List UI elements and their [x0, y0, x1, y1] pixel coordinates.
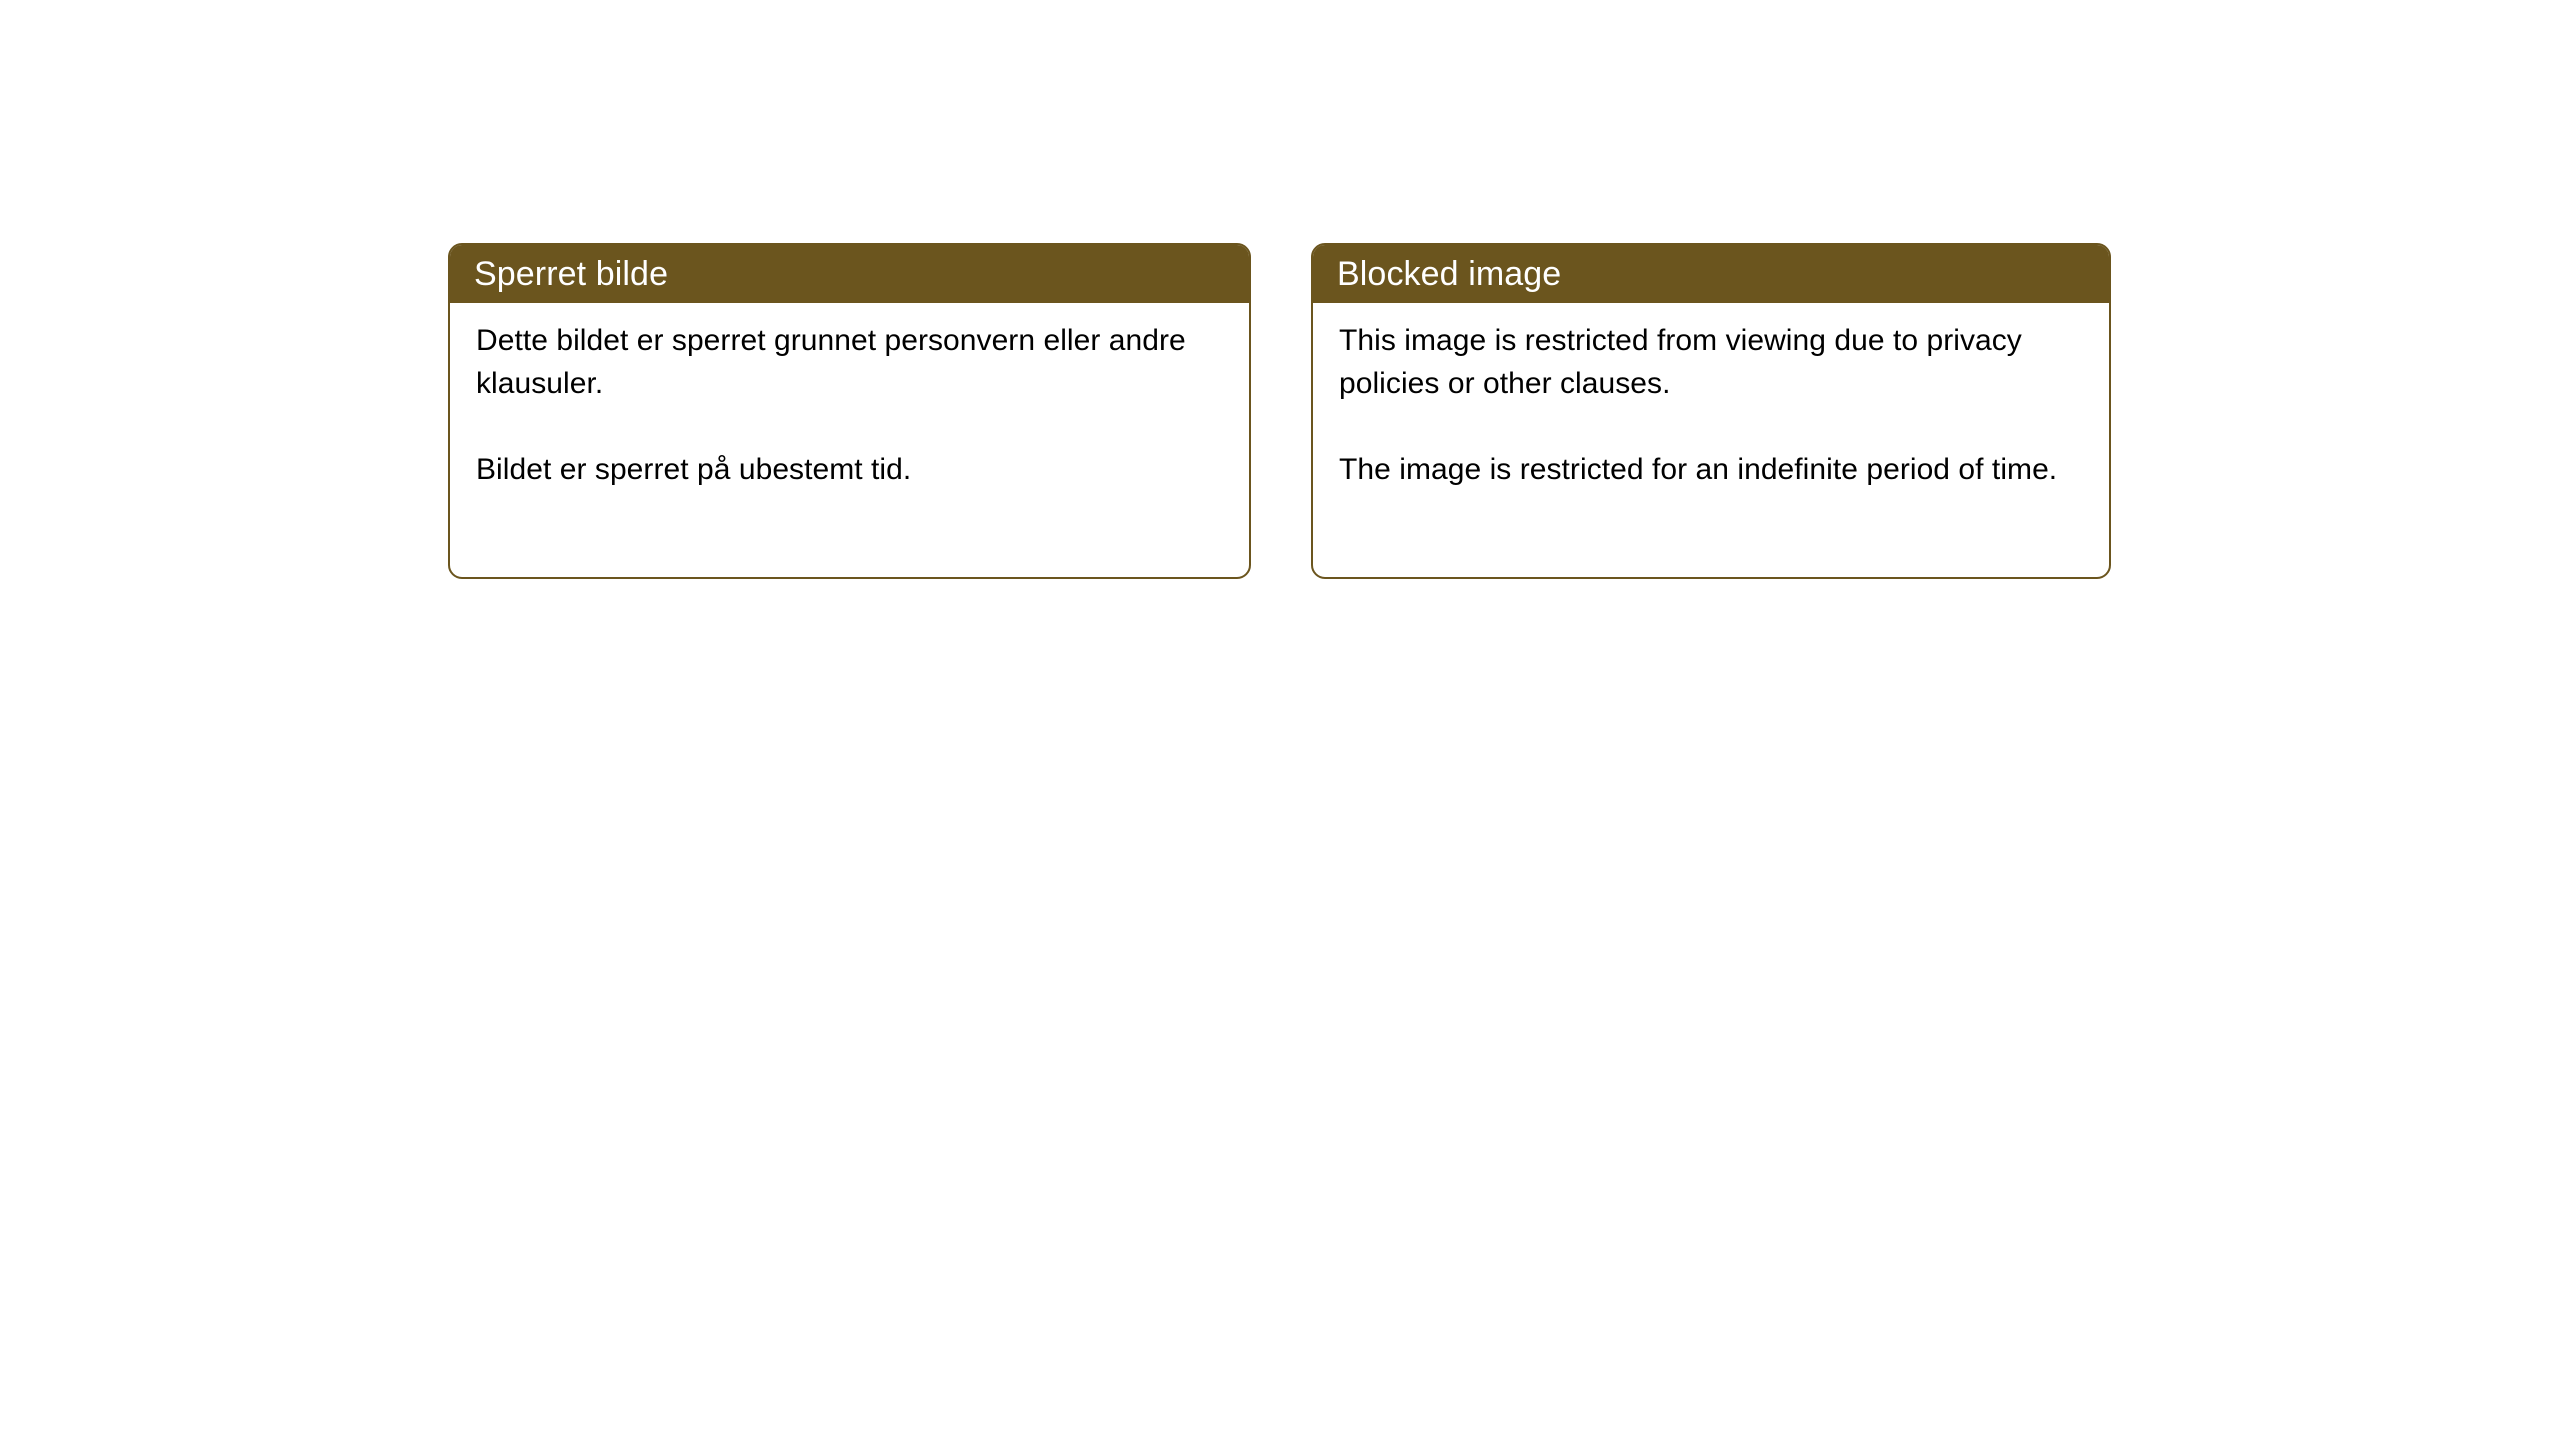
- notice-message-secondary-no: Bildet er sperret på ubestemt tid.: [476, 448, 1223, 491]
- notice-header-en: Blocked image: [1313, 245, 2109, 303]
- notice-title-no: Sperret bilde: [474, 257, 668, 291]
- notice-body-no: Dette bildet er sperret grunnet personve…: [450, 303, 1249, 577]
- notice-title-en: Blocked image: [1337, 257, 1561, 291]
- notice-header-no: Sperret bilde: [450, 245, 1249, 303]
- notice-message-secondary-en: The image is restricted for an indefinit…: [1339, 448, 2083, 491]
- blocked-image-notice-card-no: Sperret bilde Dette bildet er sperret gr…: [448, 243, 1251, 579]
- notice-message-primary-en: This image is restricted from viewing du…: [1339, 319, 2083, 405]
- blocked-image-notice-card-en: Blocked image This image is restricted f…: [1311, 243, 2111, 579]
- notice-body-en: This image is restricted from viewing du…: [1313, 303, 2109, 577]
- page-canvas: Sperret bilde Dette bildet er sperret gr…: [0, 0, 2560, 1440]
- notice-message-primary-no: Dette bildet er sperret grunnet personve…: [476, 319, 1223, 405]
